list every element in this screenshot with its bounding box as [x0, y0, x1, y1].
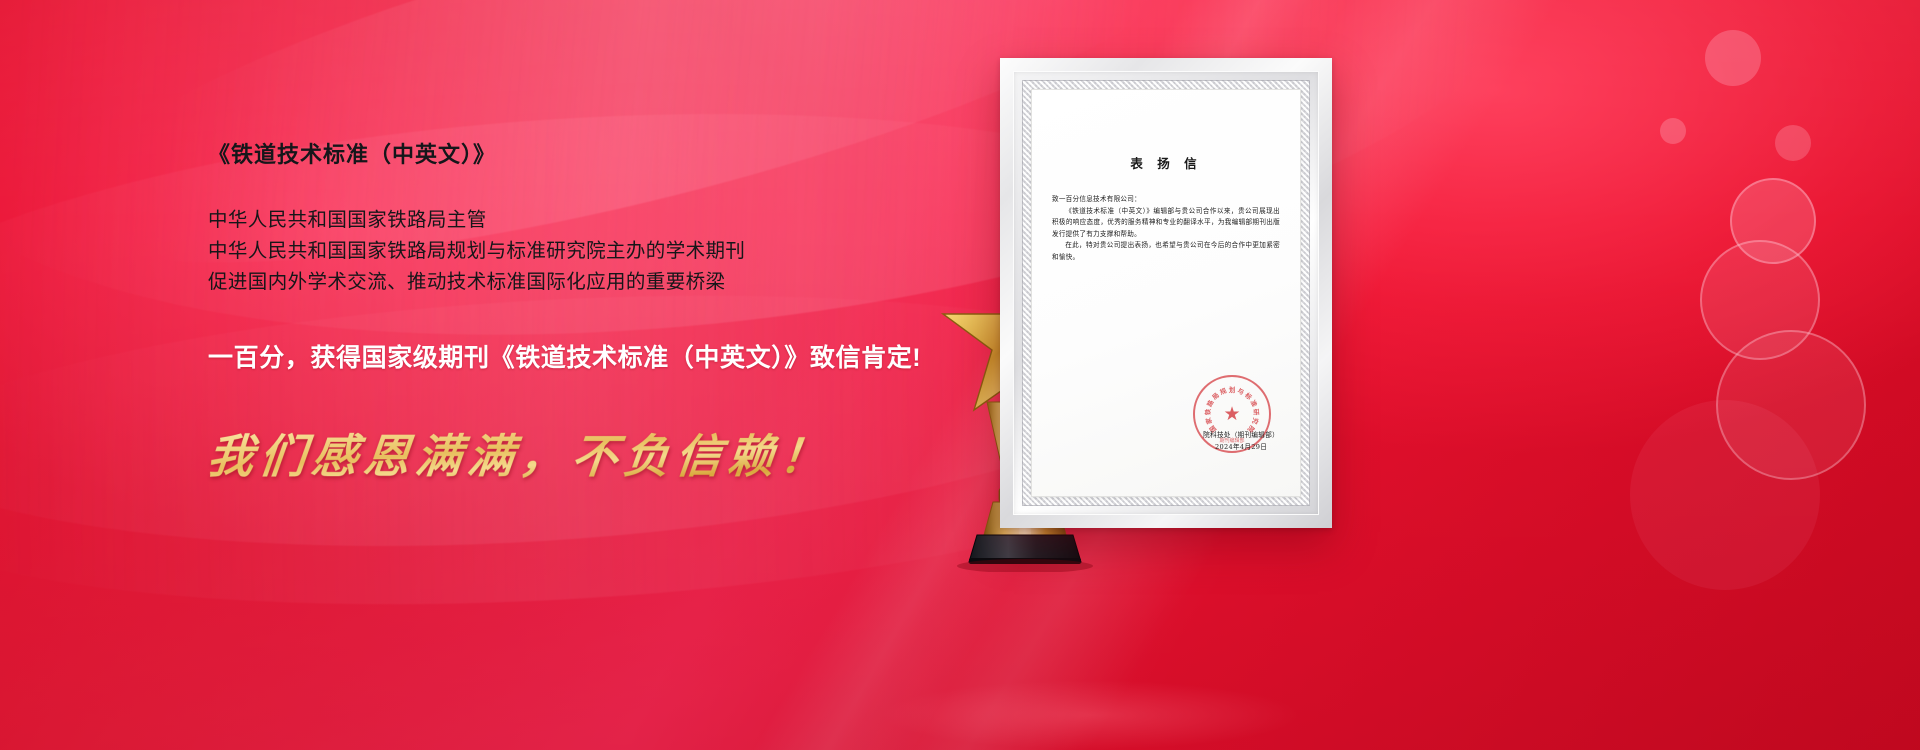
bokeh-circle: [1775, 125, 1811, 161]
seal-ring-char: 准: [1249, 398, 1260, 408]
certificate-paragraph-1: 《铁道技术标准（中英文）》编辑部与贵公司合作以来，贵公司展现出积极的响应态度，优…: [1052, 206, 1280, 241]
seal-ring-char: 规: [1218, 386, 1227, 397]
seal-ring-char: 铁: [1203, 408, 1212, 415]
bokeh-circle: [1730, 178, 1816, 264]
bokeh-circle: [1660, 118, 1686, 144]
banner-text-block: 《铁道技术标准（中英文）》 中华人民共和国国家铁路局主管 中华人民共和国国家铁路…: [208, 140, 1028, 486]
signature-org: 院科技处（期刊编辑部）: [1203, 429, 1279, 441]
description-line-2: 中华人民共和国国家铁路局规划与标准研究院主办的学术期刊: [208, 236, 1028, 267]
promo-banner: 《铁道技术标准（中英文）》 中华人民共和国国家铁路局主管 中华人民共和国国家铁路…: [0, 0, 1920, 750]
frame-texture-band: 表 扬 信 致一百分信息技术有限公司： 《铁道技术标准（中英文）》编辑部与贵公司…: [1022, 80, 1310, 506]
journal-title: 《铁道技术标准（中英文）》: [208, 140, 1028, 171]
certificate-paragraph-2: 在此，特对贵公司提出表扬，也希望与贵公司在今后的合作中更加紧密和愉快。: [1052, 240, 1280, 263]
bokeh-circle: [1716, 330, 1866, 480]
signature-date: 2024年4月29日: [1203, 441, 1279, 453]
seal-ring-char: 划: [1229, 385, 1235, 394]
certificate-title: 表 扬 信: [1052, 153, 1280, 172]
certificate-salutation: 致一百分信息技术有限公司：: [1052, 194, 1280, 206]
bokeh-circle: [1700, 240, 1820, 360]
certificate-frame: 表 扬 信 致一百分信息技术有限公司： 《铁道技术标准（中英文）》编辑部与贵公司…: [1000, 58, 1332, 528]
bokeh-circle: [1630, 400, 1820, 590]
description-line-3: 促进国内外学术交流、推动技术标准国际化应用的重要桥梁: [208, 267, 1028, 298]
frame-bevel: 表 扬 信 致一百分信息技术有限公司： 《铁道技术标准（中英文）》编辑部与贵公司…: [1013, 71, 1319, 515]
gold-calligraphy-text: 我们感恩满满，不负信赖！: [205, 420, 836, 486]
bokeh-circle: [1705, 30, 1761, 86]
certificate-paper: 表 扬 信 致一百分信息技术有限公司： 《铁道技术标准（中英文）》编辑部与贵公司…: [1031, 89, 1301, 497]
seal-ring-char: 研: [1252, 408, 1261, 415]
floor-glow: [880, 680, 1300, 750]
seal-ring-char: 究: [1250, 417, 1260, 426]
description-line-1: 中华人民共和国国家铁路局主管: [208, 205, 1028, 236]
certificate-signature: 院科技处（期刊编辑部） 2024年4月29日: [1203, 429, 1279, 453]
trophy-base: [969, 535, 1081, 562]
headline: 一百分，获得国家级期刊《铁道技术标准（中英文）》致信肯定!: [208, 338, 1028, 374]
